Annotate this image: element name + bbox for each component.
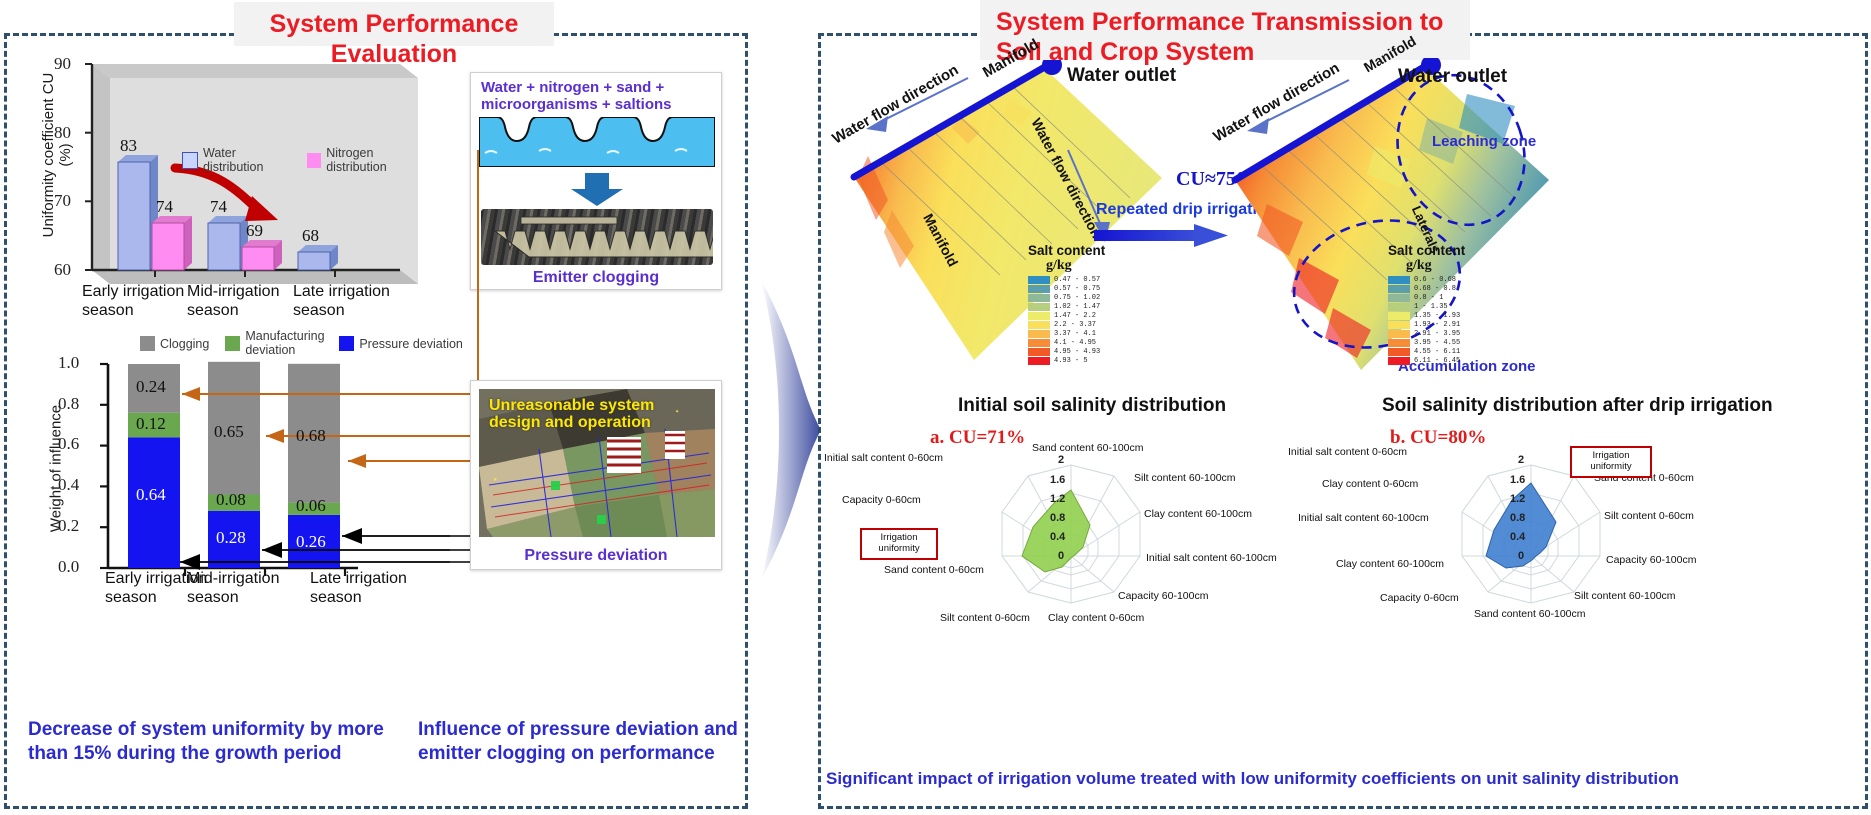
soil-right-legend: Salt content g/kg 0.6 - 0.68 0.68 - 0.8 … — [1388, 243, 1465, 365]
satellite-caption: Pressure deviation — [471, 547, 721, 565]
legend-swatch — [1388, 339, 1410, 347]
legend-row: 1.47 - 2.2 — [1028, 312, 1105, 320]
chart1-legend-water: Water distribution — [182, 146, 293, 174]
left-caption-2: Influence of pressure deviation and emit… — [418, 718, 738, 766]
emitter-caption: Emitter clogging — [471, 269, 721, 287]
radar-a-axis-silt0-60: Silt content 0-60cm — [940, 612, 1030, 624]
soil-right-legend-rows: 0.6 - 0.68 0.68 - 0.8 0.8 - 1 1 - 1.35 1… — [1388, 276, 1465, 365]
chart1-xcat-mid-label: Mid-irrigation season — [187, 283, 279, 319]
legend-swatch — [1388, 321, 1410, 329]
soil-left-water-outlet: Water outlet — [1067, 65, 1176, 87]
radar-a-axis-sand0-60: Sand content 0-60cm — [884, 564, 984, 576]
radar-a-tick-0: 0 — [1058, 550, 1064, 562]
leaching-zone-label: Leaching zone — [1432, 133, 1536, 150]
soil-left-legend-unit: g/kg — [1046, 258, 1105, 274]
uniformity-chart: Uniformity coefficient CU (%) — [30, 58, 430, 318]
legend-range: 0.47 - 0.57 — [1054, 277, 1100, 284]
legend-row: 3.37 - 4.1 — [1028, 330, 1105, 338]
legend-row: 1.35 - 1.93 — [1388, 312, 1465, 320]
radar-a-axis-silt60-100: Silt content 60-100cm — [1134, 472, 1236, 484]
radar-a-tick-16: 1.6 — [1050, 474, 1065, 486]
chart2-legend-clogging-label: Clogging — [160, 337, 209, 351]
radar-a-irrigation-uniformity-callout: Irrigation uniformity — [860, 528, 938, 560]
left-section-title: System Performance Evaluation — [234, 2, 554, 46]
radar-a-axis-sand60-100: Sand content 60-100cm — [1032, 442, 1144, 454]
chart2-legend-pressure-label: Pressure deviation — [359, 337, 463, 351]
chart2-ytick-06: 0.6 — [58, 434, 79, 454]
radar-b-irrigation-uniformity-callout: Irrigation uniformity — [1570, 446, 1652, 478]
satellite-overlay-line1: Unreasonable system — [489, 397, 654, 415]
pressure-deviation-swatch — [339, 336, 354, 351]
legend-swatch — [1028, 357, 1050, 365]
chart2-value-clogging-late: 0.68 — [296, 426, 326, 446]
legend-row: 0.68 - 0.8 — [1388, 285, 1465, 293]
legend-swatch — [1388, 285, 1410, 293]
radar-b-axis-sand60-100: Sand content 60-100cm — [1474, 608, 1586, 620]
legend-swatch — [1388, 312, 1410, 320]
radar-b-tick-04: 0.4 — [1510, 531, 1525, 543]
soil-right-water-outlet: Water outlet — [1398, 66, 1507, 88]
radar-b-axis-silt60-100: Silt content 60-100cm — [1574, 590, 1676, 602]
legend-row: 0.57 - 0.75 — [1028, 285, 1105, 293]
legend-range: 1 - 1.35 — [1414, 304, 1448, 311]
radar-b-tick-0: 0 — [1518, 550, 1524, 562]
radar-a-callout-text: Irrigation uniformity — [878, 532, 919, 554]
legend-swatch — [1028, 321, 1050, 329]
right-caption-text: Significant impact of irrigation volume … — [826, 769, 1679, 788]
chart2-value-manufacturing-mid: 0.08 — [216, 490, 246, 510]
chart2-value-clogging-early: 0.24 — [136, 377, 166, 397]
legend-swatch — [1028, 330, 1050, 338]
radar-a-axis-capacity0-60: Capacity 0-60cm — [842, 494, 921, 506]
legend-row: 1.93 - 2.91 — [1388, 321, 1465, 329]
chart2-value-pressure-mid: 0.28 — [216, 528, 246, 548]
radar-a-axis-initialsalt60-100: Initial salt content 60-100cm — [1146, 552, 1277, 564]
chart2-xcat-late-label: Late irrigation season — [310, 570, 407, 606]
chart1-legend-nitrogen: Nitrogen distribution — [307, 146, 430, 174]
legend-range: 1.93 - 2.91 — [1414, 322, 1460, 329]
radar-a-tick-2: 2 — [1058, 454, 1064, 466]
radar-b-axis-initialsalt0-60: Initial salt content 0-60cm — [1288, 446, 1407, 458]
radar-chart-a: 2 1.6 1.2 0.8 0.4 0 Sand content 60-100c… — [900, 430, 1230, 642]
radar-b-title: Soil salinity distribution after drip ir… — [1382, 395, 1773, 417]
legend-row: 3.95 - 4.55 — [1388, 339, 1465, 347]
legend-swatch — [1028, 294, 1050, 302]
chart2-legend-manufacturing: Manufacturing deviation — [225, 330, 323, 358]
legend-row: 4.1 - 4.95 — [1028, 339, 1105, 347]
radar-b-callout-text: Irrigation uniformity — [1590, 450, 1631, 472]
soil-right-water-outlet-label: Water outlet — [1398, 66, 1507, 87]
chart2-ytick-00: 0.0 — [58, 557, 79, 577]
legend-range: 2.91 - 3.95 — [1414, 331, 1460, 338]
legend-row: 0.6 - 0.68 — [1388, 276, 1465, 284]
radar-a-title: Initial soil salinity distribution — [958, 395, 1226, 417]
legend-row: 0.8 - 1 — [1388, 294, 1465, 302]
legend-row: 4.93 - 5 — [1028, 357, 1105, 365]
chart1-value-water-early: 83 — [120, 136, 137, 156]
chart2-xcat-mid: Mid-irrigation season — [187, 570, 295, 608]
chart1-xcat-early-label: Early irrigation season — [82, 283, 184, 319]
pressure-deviation-panel: ★✦ Unreasonable system design and operat… — [470, 380, 722, 570]
chart2-legend-clogging: Clogging — [140, 336, 209, 351]
left-caption-1-text: Decrease of system uniformity by more th… — [28, 719, 384, 764]
radar-b-axis-silt0-60: Silt content 0-60cm — [1604, 510, 1694, 522]
svg-text:✦: ✦ — [675, 409, 679, 415]
radar-b-axis-initialsalt60-100: Initial salt content 60-100cm — [1298, 512, 1429, 524]
chart2-value-pressure-early: 0.64 — [136, 485, 166, 505]
chart1-xcat-mid: Mid-irrigation season — [187, 283, 295, 321]
legend-swatch — [1028, 285, 1050, 293]
legend-range: 4.93 - 5 — [1054, 358, 1088, 365]
radar-b-axis-capacity60-100: Capacity 60-100cm — [1606, 554, 1696, 566]
chart2-value-pressure-late: 0.26 — [296, 532, 326, 552]
legend-swatch — [1388, 330, 1410, 338]
chart1-value-nitrogen-mid: 69 — [246, 221, 263, 241]
legend-range: 1.35 - 1.93 — [1414, 313, 1460, 320]
radar-a-axis-clay60-100: Clay content 60-100cm — [1144, 508, 1252, 520]
chart2-ytick-02: 0.2 — [58, 516, 79, 536]
legend-range: 0.57 - 0.75 — [1054, 286, 1100, 293]
chart1-legend-nitrogen-label: Nitrogen distribution — [326, 146, 430, 174]
legend-swatch — [1028, 312, 1050, 320]
left-caption-1: Decrease of system uniformity by more th… — [28, 718, 388, 766]
soil-left-water-outlet-label: Water outlet — [1067, 65, 1176, 86]
legend-row: 6.11 - 6.45 — [1388, 357, 1465, 365]
radar-chart-b: 2 1.6 1.2 0.8 0.4 0 Sand content 0-60cm … — [1360, 430, 1690, 642]
chart1-ytick-90: 90 — [54, 54, 71, 74]
radar-a-tick-12: 1.2 — [1050, 493, 1065, 505]
leaching-zone-text: Leaching zone — [1432, 133, 1536, 150]
right-caption: Significant impact of irrigation volume … — [826, 769, 1871, 789]
legend-swatch — [1028, 348, 1050, 356]
chart1-ytick-70: 70 — [54, 191, 71, 211]
legend-row: 0.75 - 1.02 — [1028, 294, 1105, 302]
water-distribution-swatch — [182, 152, 198, 169]
radar-b-tick-08: 0.8 — [1510, 512, 1525, 524]
radar-b-axis-capacity0-60: Capacity 0-60cm — [1380, 592, 1459, 604]
soil-left-legend-rows: 0.47 - 0.57 0.57 - 0.75 0.75 - 1.02 1.02… — [1028, 276, 1105, 365]
legend-row: 4.95 - 4.93 — [1028, 348, 1105, 356]
chart1-legend: Water distribution Nitrogen distribution — [182, 146, 430, 174]
chart2-value-clogging-mid: 0.65 — [214, 422, 244, 442]
soil-left-legend: Salt content g/kg 0.47 - 0.57 0.57 - 0.7… — [1028, 243, 1105, 365]
chart1-ytick-80: 80 — [54, 123, 71, 143]
clogged-emitter-photo — [481, 209, 713, 265]
initial-soil-block-diagram: Water flow direction Manifold Water flow… — [840, 60, 1170, 380]
transition-arrow-right — [1094, 224, 1228, 248]
chart2-ytick-08: 0.8 — [58, 394, 79, 414]
center-transition-arrow — [755, 280, 825, 580]
legend-row: 2.2 - 3.37 — [1028, 321, 1105, 329]
legend-row: 1 - 1.35 — [1388, 303, 1465, 311]
chart1-xcat-late: Late irrigation season — [293, 283, 397, 321]
chart2-ytick-04: 0.4 — [58, 475, 79, 495]
legend-range: 0.75 - 1.02 — [1054, 295, 1100, 302]
legend-range: 1.02 - 1.47 — [1054, 304, 1100, 311]
chart1-value-water-mid: 74 — [210, 197, 227, 217]
legend-swatch — [1388, 357, 1410, 365]
chart1-ytick-60: 60 — [54, 260, 71, 280]
legend-row: 1.02 - 1.47 — [1028, 303, 1105, 311]
legend-range: 0.68 - 0.8 — [1414, 286, 1456, 293]
legend-range: 3.37 - 4.1 — [1054, 331, 1096, 338]
radar-b-axis-clay0-60: Clay content 0-60cm — [1322, 478, 1418, 490]
chart1-value-water-late: 68 — [302, 226, 319, 246]
radar-a-axis-clay0-60: Clay content 0-60cm — [1048, 612, 1144, 624]
chart2-legend-manufacturing-label: Manufacturing deviation — [245, 330, 323, 358]
legend-swatch — [1028, 276, 1050, 284]
chart1-value-nitrogen-early: 74 — [156, 197, 173, 217]
svg-text:★: ★ — [493, 477, 498, 483]
manufacturing-deviation-swatch — [225, 336, 240, 351]
emitter-heading-line2: microorganisms + saltions — [481, 96, 671, 113]
nitrogen-distribution-swatch — [307, 153, 321, 168]
radar-b-tick-2: 2 — [1518, 454, 1524, 466]
legend-range: 4.95 - 4.93 — [1054, 349, 1100, 356]
legend-swatch — [1388, 276, 1410, 284]
legend-range: 1.47 - 2.2 — [1054, 313, 1096, 320]
legend-range: 4.55 - 6.11 — [1414, 349, 1460, 356]
legend-row: 4.55 - 6.11 — [1388, 348, 1465, 356]
legend-swatch — [1388, 294, 1410, 302]
legend-range: 4.1 - 4.95 — [1054, 340, 1096, 347]
chart2-xcat-late: Late irrigation season — [310, 570, 414, 608]
legend-swatch — [1028, 303, 1050, 311]
chart1-legend-water-label: Water distribution — [203, 146, 293, 174]
left-caption-2-text: Influence of pressure deviation and emit… — [418, 719, 738, 764]
legend-row: 2.91 - 3.95 — [1388, 330, 1465, 338]
chart1-xcat-late-label: Late irrigation season — [293, 283, 390, 319]
legend-swatch — [1388, 303, 1410, 311]
radar-a-tick-08: 0.8 — [1050, 512, 1065, 524]
legend-range: 3.95 - 4.55 — [1414, 340, 1460, 347]
chart1-xcat-early: Early irrigation season — [82, 283, 192, 321]
radar-b-axis-clay60-100: Clay content 60-100cm — [1336, 558, 1444, 570]
chart2-legend-pressure: Pressure deviation — [339, 336, 463, 351]
soil-right-legend-title: Salt content — [1388, 243, 1465, 258]
chart2-ytick-1: 1.0 — [58, 353, 79, 373]
radar-b-tick-16: 1.6 — [1510, 474, 1525, 486]
chart2-legend: Clogging Manufacturing deviation Pressur… — [140, 330, 463, 358]
legend-row: 0.47 - 0.57 — [1028, 276, 1105, 284]
legend-range: 0.6 - 0.68 — [1414, 277, 1456, 284]
clogging-swatch — [140, 336, 155, 351]
emitter-clogging-panel: Water + nitrogen + sand + microorganisms… — [470, 72, 722, 290]
radar-a-axis-initialsalt0-60: Initial salt content 0-60cm — [824, 452, 943, 464]
legend-range: 0.8 - 1 — [1414, 295, 1443, 302]
chart2-value-manufacturing-early: 0.12 — [136, 414, 166, 434]
chart2-xcat-mid-label: Mid-irrigation season — [187, 570, 279, 606]
radar-a-axis-capacity60-100: Capacity 60-100cm — [1118, 590, 1208, 602]
legend-range: 2.2 - 3.37 — [1054, 322, 1096, 329]
chart2-value-manufacturing-late: 0.06 — [296, 496, 326, 516]
satellite-overlay-line2: design and operation — [489, 414, 651, 432]
legend-swatch — [1028, 339, 1050, 347]
radar-b-tick-12: 1.2 — [1510, 493, 1525, 505]
legend-range: 6.11 - 6.45 — [1414, 358, 1460, 365]
soil-right-legend-unit: g/kg — [1406, 258, 1465, 274]
legend-swatch — [1388, 348, 1410, 356]
radar-a-tick-04: 0.4 — [1050, 531, 1065, 543]
emitter-heading-line1: Water + nitrogen + sand + — [481, 79, 664, 96]
